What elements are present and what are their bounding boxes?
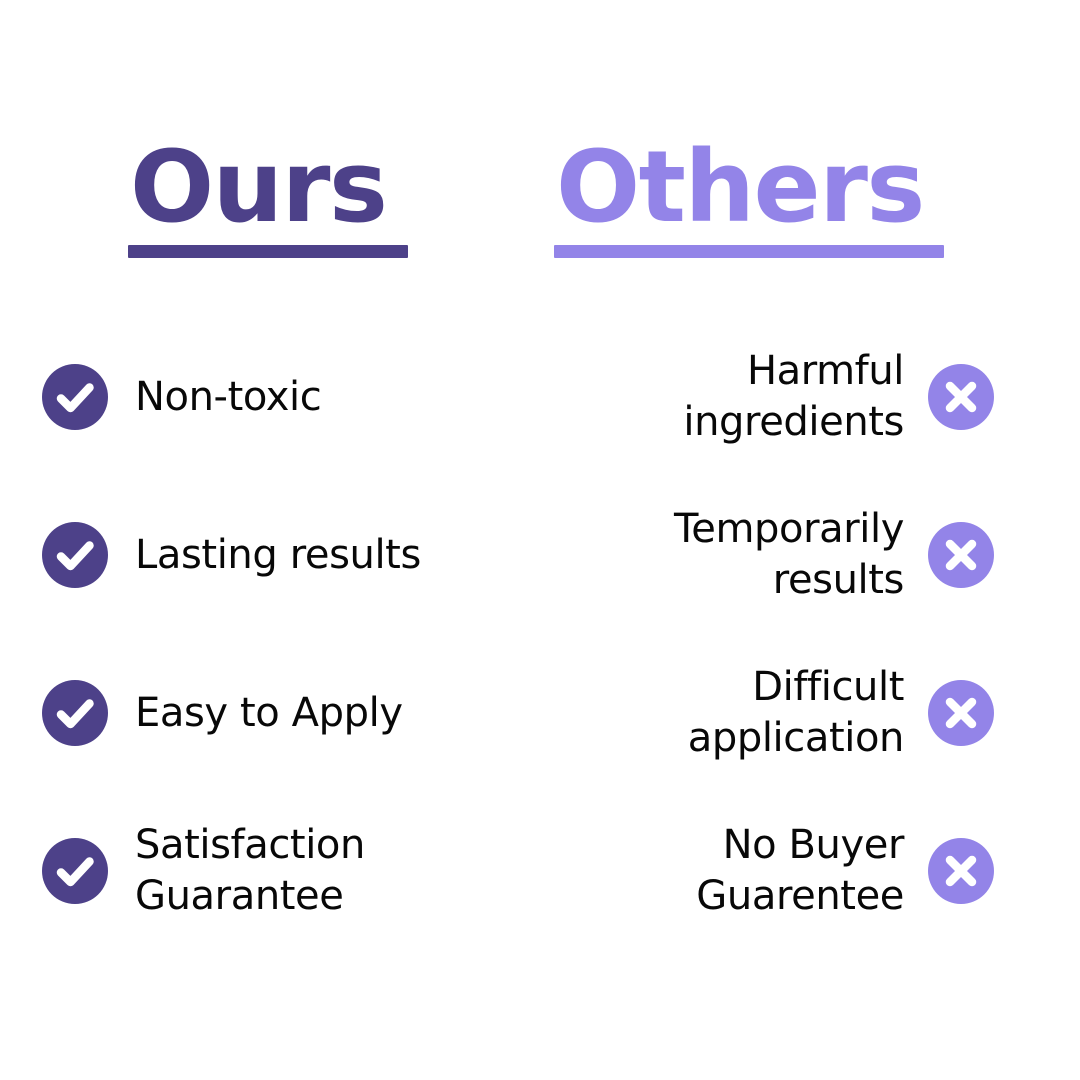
- others-cell: Difficult application: [524, 634, 1080, 792]
- comparison-rows: Non-toxic Harmful ingredients Last: [0, 318, 1080, 950]
- others-column-heading: Others: [554, 138, 944, 258]
- comparison-row: Satisfaction Guarantee No Buyer Guarente…: [0, 792, 1080, 950]
- ours-item-label: Satisfaction Guarantee: [135, 820, 365, 922]
- ours-cell: Easy to Apply: [0, 634, 512, 792]
- comparison-row: Non-toxic Harmful ingredients: [0, 318, 1080, 476]
- others-cell: No Buyer Guarentee: [524, 792, 1080, 950]
- column-headings: Ours Others: [0, 138, 1080, 263]
- ours-cell: Non-toxic: [0, 318, 512, 476]
- others-cell: Harmful ingredients: [524, 318, 1080, 476]
- check-circle-icon: [42, 364, 108, 430]
- others-heading-label: Others: [554, 138, 944, 239]
- cross-circle-icon: [928, 680, 994, 746]
- ours-item-label: Lasting results: [135, 530, 421, 581]
- comparison-poster: Ours Others Non-toxic Harmful ingredient…: [0, 0, 1080, 1080]
- check-circle-icon: [42, 522, 108, 588]
- ours-heading-label: Ours: [128, 138, 408, 239]
- ours-cell: Satisfaction Guarantee: [0, 792, 512, 950]
- ours-item-label: Non-toxic: [135, 372, 321, 423]
- comparison-row: Lasting results Temporarily results: [0, 476, 1080, 634]
- comparison-row: Easy to Apply Difficult application: [0, 634, 1080, 792]
- others-item-label: No Buyer Guarentee: [696, 820, 904, 922]
- cross-circle-icon: [928, 838, 994, 904]
- ours-column-heading: Ours: [128, 138, 408, 258]
- ours-item-label: Easy to Apply: [135, 688, 403, 739]
- others-item-label: Temporarily results: [674, 504, 904, 606]
- ours-heading-underline: [128, 245, 408, 258]
- cross-circle-icon: [928, 364, 994, 430]
- others-item-label: Difficult application: [688, 662, 904, 764]
- others-heading-underline: [554, 245, 944, 258]
- others-item-label: Harmful ingredients: [683, 346, 904, 448]
- ours-cell: Lasting results: [0, 476, 512, 634]
- check-circle-icon: [42, 838, 108, 904]
- others-cell: Temporarily results: [524, 476, 1080, 634]
- check-circle-icon: [42, 680, 108, 746]
- cross-circle-icon: [928, 522, 994, 588]
